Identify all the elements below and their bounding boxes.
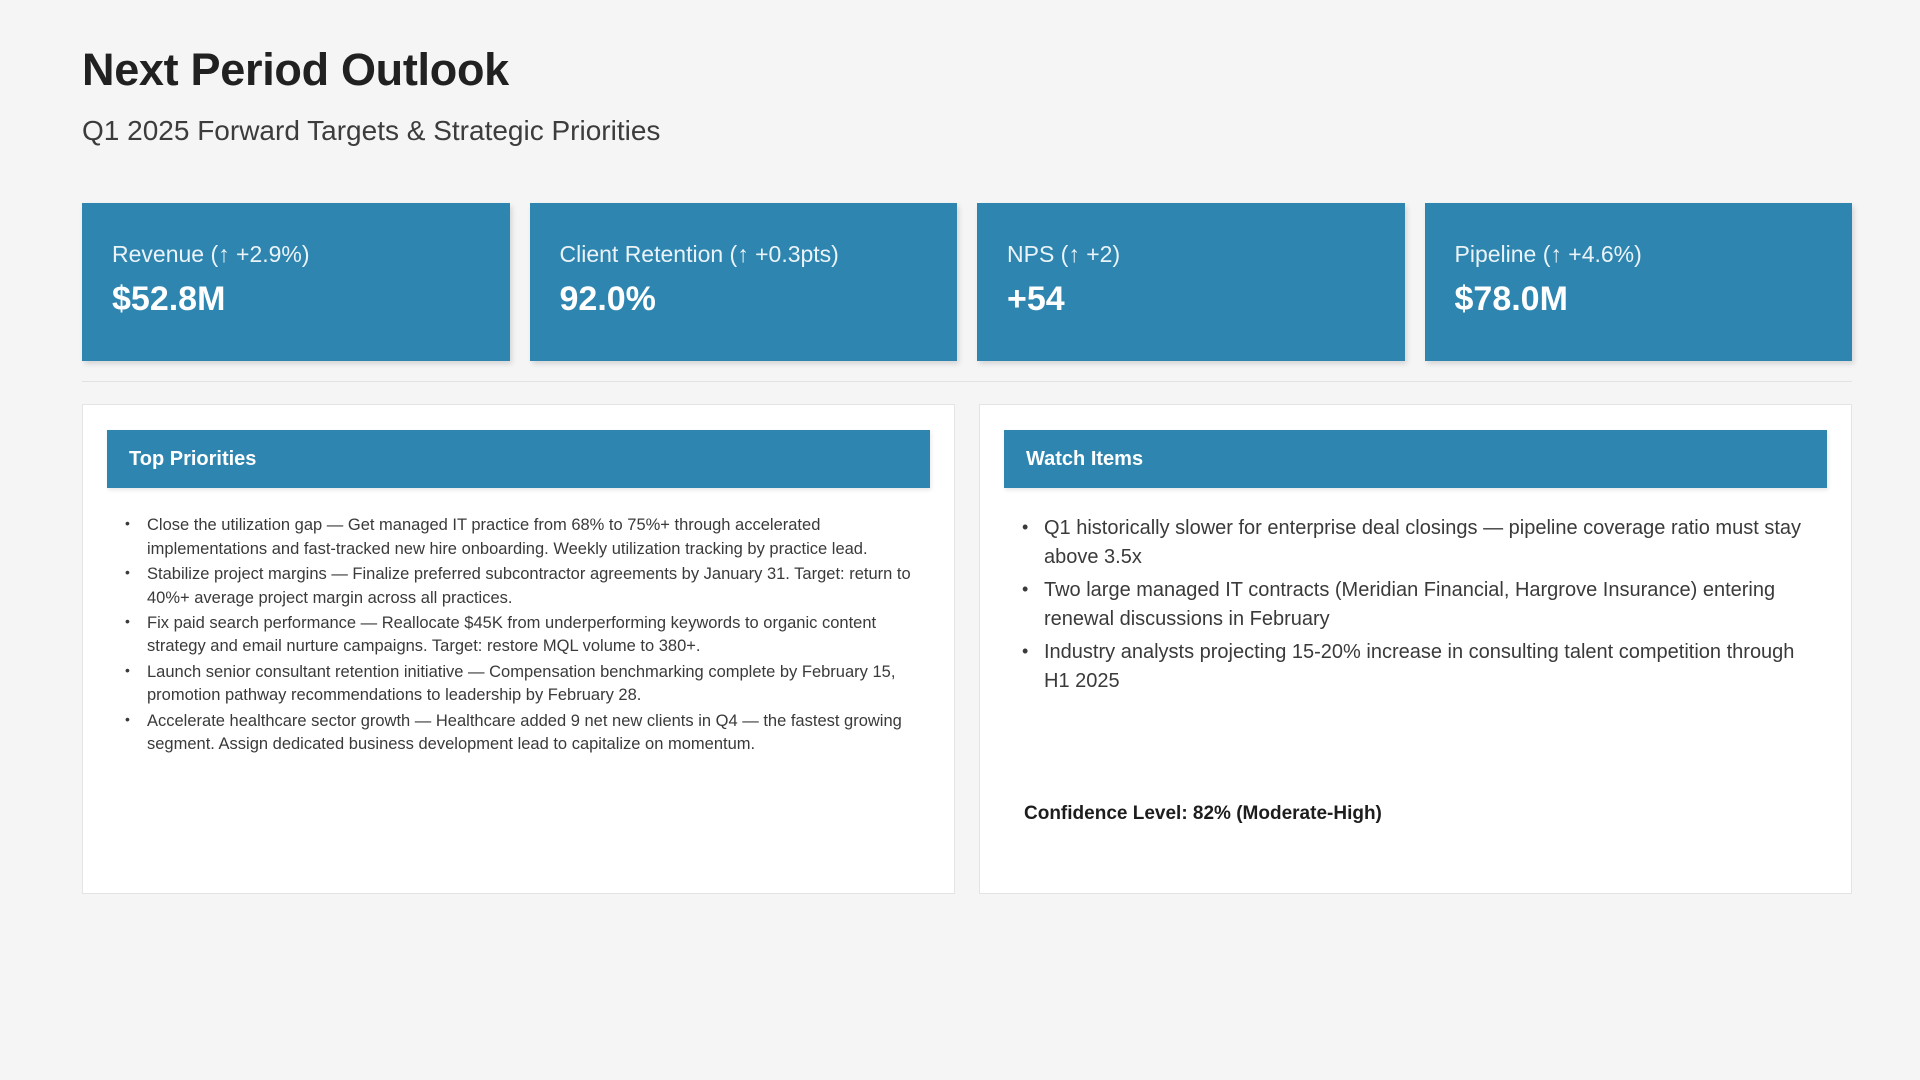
- kpi-value: 92.0%: [560, 279, 930, 320]
- list-item: Industry analysts projecting 15-20% incr…: [1014, 638, 1817, 696]
- kpi-card-revenue: Revenue (↑ +2.9%) $52.8M: [82, 203, 510, 361]
- list-item: Launch senior consultant retention initi…: [117, 661, 920, 708]
- kpi-card-nps: NPS (↑ +2) +54: [977, 203, 1405, 361]
- list-item: Fix paid search performance — Reallocate…: [117, 612, 920, 659]
- list-item: Close the utilization gap — Get managed …: [117, 514, 920, 561]
- kpi-card-strip: Revenue (↑ +2.9%) $52.8M Client Retentio…: [82, 203, 1852, 361]
- kpi-value: +54: [1007, 279, 1377, 320]
- kpi-value: $78.0M: [1455, 279, 1825, 320]
- priorities-list: Close the utilization gap — Get managed …: [117, 514, 920, 758]
- kpi-value: $52.8M: [112, 279, 482, 320]
- list-item: Two large managed IT contracts (Meridian…: [1014, 576, 1817, 634]
- confidence-level: Confidence Level: 82% (Moderate-High): [1014, 803, 1817, 869]
- panel-header-top-priorities: Top Priorities: [107, 430, 930, 488]
- panel-body-top-priorities: Close the utilization gap — Get managed …: [107, 488, 930, 869]
- list-item: Q1 historically slower for enterprise de…: [1014, 514, 1817, 572]
- kpi-label: NPS (↑ +2): [1007, 241, 1377, 269]
- kpi-label: Client Retention (↑ +0.3pts): [560, 241, 930, 269]
- panel-title: Watch Items: [1026, 448, 1143, 471]
- panel-row: Top Priorities Close the utilization gap…: [82, 404, 1852, 894]
- kpi-card-pipeline: Pipeline (↑ +4.6%) $78.0M: [1425, 203, 1853, 361]
- list-item: Stabilize project margins — Finalize pre…: [117, 563, 920, 610]
- panel-title: Top Priorities: [129, 448, 256, 471]
- panel-watch-items: Watch Items Q1 historically slower for e…: [979, 404, 1852, 894]
- kpi-card-client-retention: Client Retention (↑ +0.3pts) 92.0%: [530, 203, 958, 361]
- panel-top-priorities: Top Priorities Close the utilization gap…: [82, 404, 955, 894]
- page-title: Next Period Outlook: [82, 44, 1920, 96]
- kpi-label: Revenue (↑ +2.9%): [112, 241, 482, 269]
- panel-header-watch-items: Watch Items: [1004, 430, 1827, 488]
- panel-body-watch-items: Q1 historically slower for enterprise de…: [1004, 488, 1827, 869]
- list-item: Accelerate healthcare sector growth — He…: [117, 710, 920, 757]
- kpi-label: Pipeline (↑ +4.6%): [1455, 241, 1825, 269]
- watch-items-list: Q1 historically slower for enterprise de…: [1014, 514, 1817, 700]
- page-subtitle: Q1 2025 Forward Targets & Strategic Prio…: [82, 114, 1920, 148]
- section-divider: [82, 381, 1852, 382]
- outlook-dashboard: Next Period Outlook Q1 2025 Forward Targ…: [0, 0, 1920, 1080]
